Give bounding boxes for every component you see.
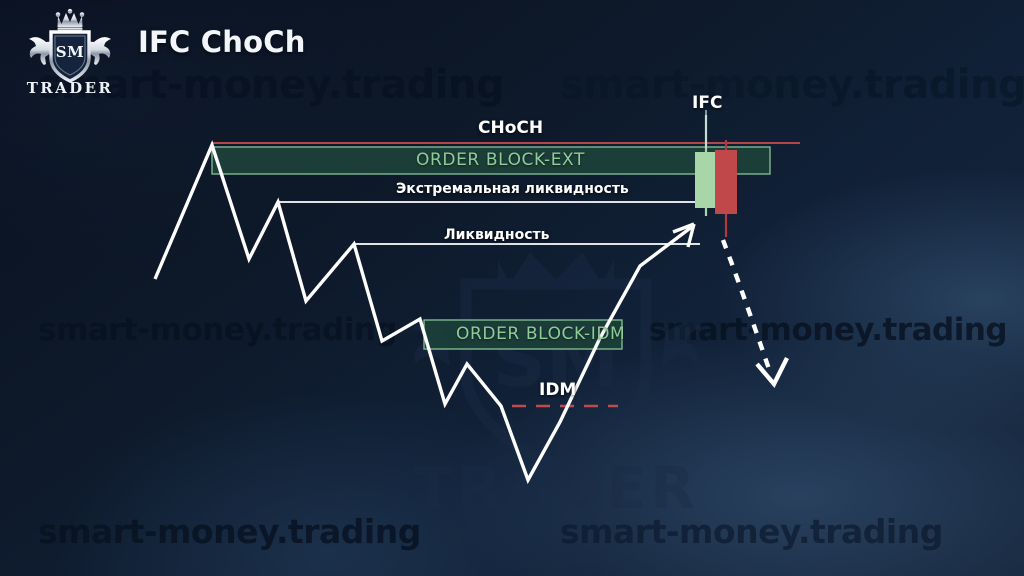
price-chart bbox=[0, 0, 1024, 576]
extreme-liquidity-label: Экстремальная ликвидность bbox=[396, 181, 629, 197]
choch-label: CHoCH bbox=[478, 118, 543, 138]
order-block-idm-label: ORDER BLOCK-IDM bbox=[456, 324, 625, 344]
bearish-candle bbox=[715, 140, 737, 237]
order-block-ext-label: ORDER BLOCK-EXT bbox=[416, 150, 585, 170]
down-arrow-icon bbox=[723, 240, 787, 384]
diagram-canvas: smart-money.trading smart-money.trading … bbox=[0, 0, 1024, 576]
idm-label: IDM bbox=[539, 380, 576, 400]
ifc-label: IFC bbox=[692, 93, 722, 113]
liquidity-label: Ликвидность bbox=[444, 227, 549, 243]
